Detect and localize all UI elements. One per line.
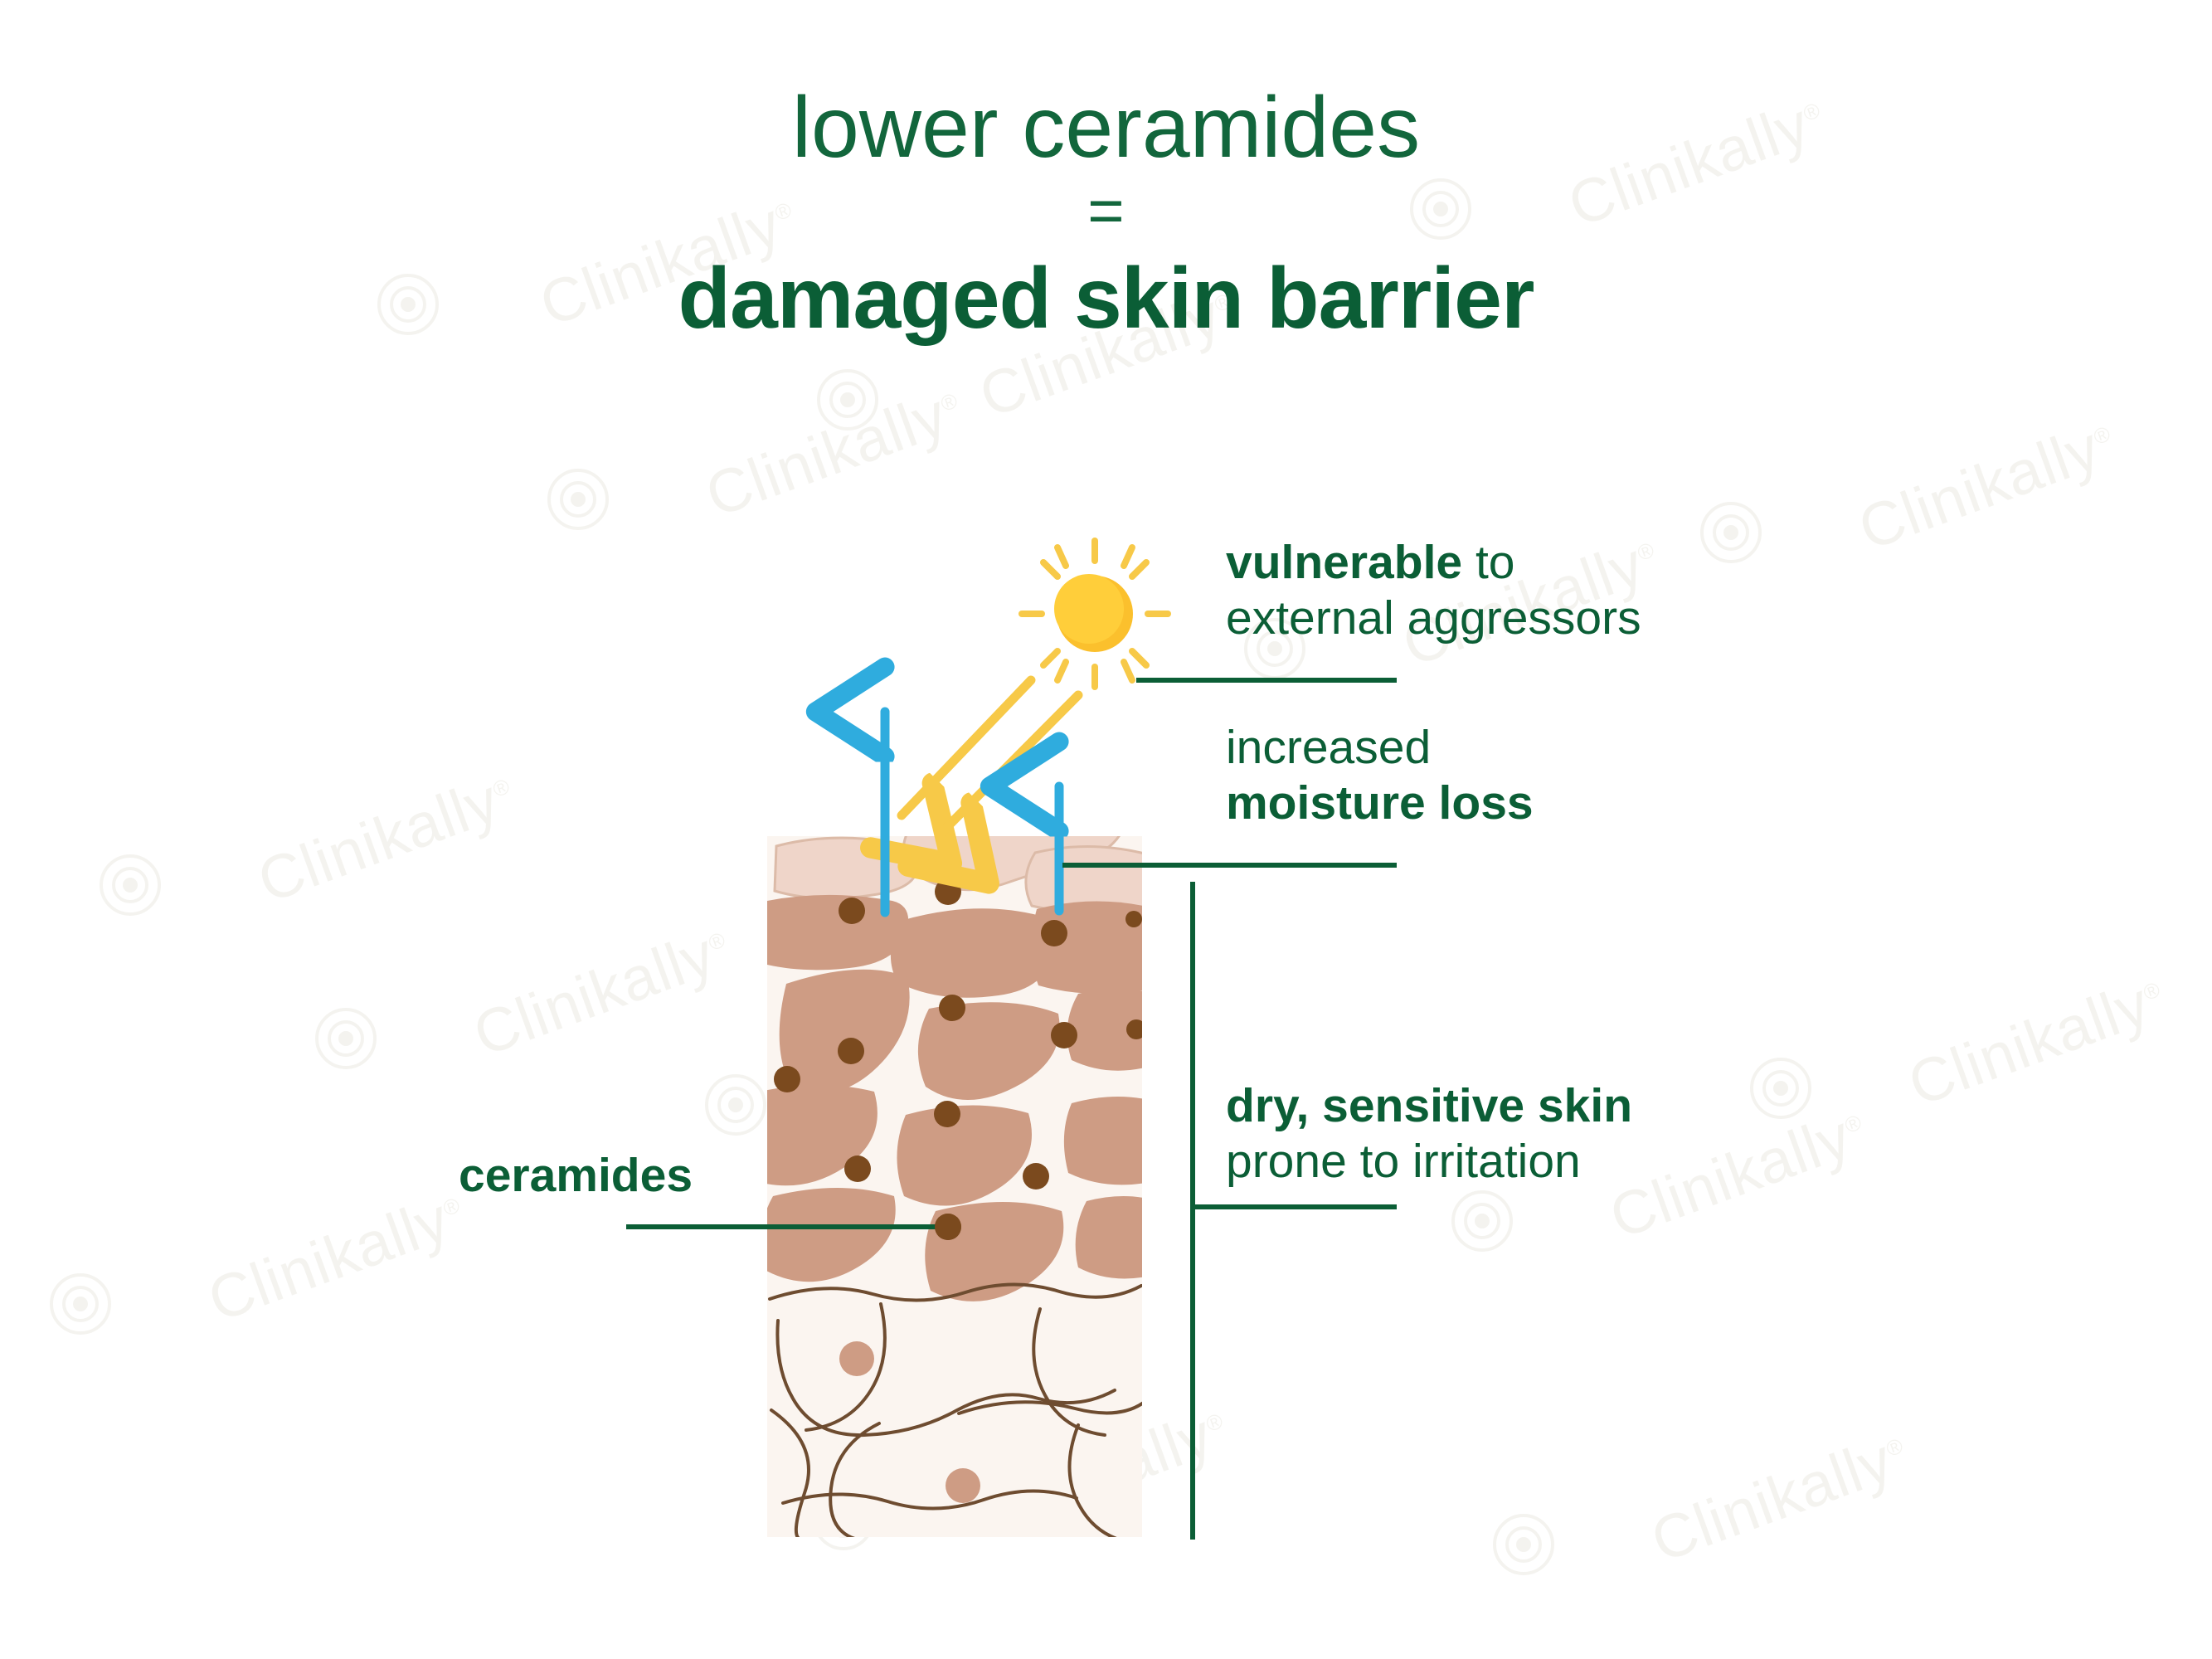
callout-moisture-line2: moisture loss [1226,776,1534,831]
ceramide-dot-icon [935,878,961,905]
ceramide-dot-icon [934,1101,960,1127]
callout-drysens-line1: dry, sensitive skin [1226,1078,1632,1134]
ceramide-dot-icon [774,1066,800,1092]
cell-nucleus [946,1468,980,1503]
sun-icon [1022,541,1168,687]
corneocyte [891,908,1054,997]
corneocyte [1064,1097,1161,1185]
callout-drysens-line2: prone to irritation [1226,1134,1632,1190]
ceramide-dot-icon [839,898,865,924]
title-line-2: damaged skin barrier [0,251,2212,346]
ceramide-dot-icon [844,1155,871,1182]
callout-moisture-loss: increased moisture loss [1226,720,1534,832]
down-arrow-icon [902,680,1031,815]
ceramide-dot-icon [1023,1163,1049,1190]
corneocyte [1076,1196,1158,1278]
skin-block [745,810,1161,1543]
ceramides-pointer-dot-icon [935,1214,961,1240]
uv-arrows-group [902,680,1078,834]
callout-dry-sensitive-skin: dry, sensitive skin prone to irritation [1226,1078,1632,1190]
corneocyte-flake [775,838,917,898]
cell-nucleus [839,1341,874,1376]
page-title: lower ceramides = damaged skin barrier [0,83,2212,347]
ceramide-dot-icon [838,1038,864,1064]
callout-vulnerable-light: to [1462,536,1514,589]
ceramide-dot-icon [1051,1022,1077,1048]
callout-vulnerable: vulnerable to external aggressors [1226,535,1641,647]
infographic-canvas: Clinikally® Clinikally® Clinikally® Clin… [0,0,2212,1659]
title-equals-sign: = [0,180,2212,243]
title-line-1: lower ceramides [0,83,2212,173]
callout-ceramides-label: ceramides [459,1148,693,1203]
callout-vulnerable-bold: vulnerable [1226,536,1462,589]
callout-moisture-line1: increased [1226,720,1534,776]
callout-vulnerable-line2: external aggressors [1226,591,1641,646]
ceramide-dot-icon [1126,1019,1146,1039]
ceramide-dot-icon [939,995,965,1021]
callout-vulnerable-line1: vulnerable to [1226,535,1641,591]
ceramide-dot-icon [1041,920,1067,946]
ceramide-dot-icon [1125,911,1142,927]
